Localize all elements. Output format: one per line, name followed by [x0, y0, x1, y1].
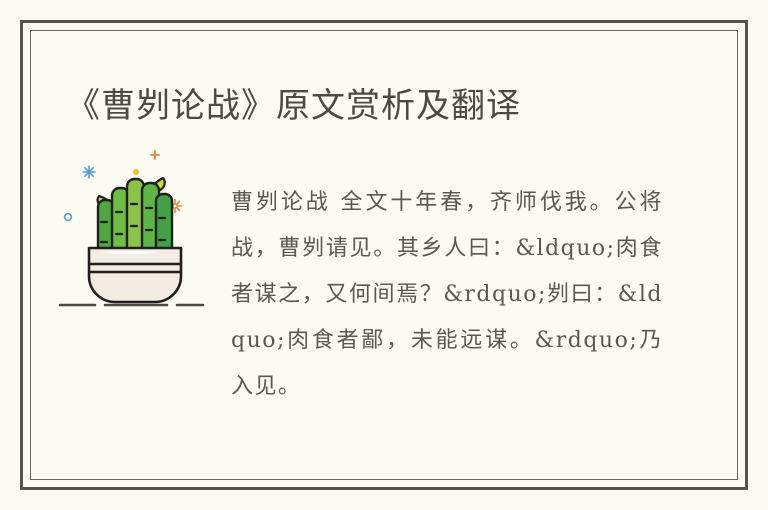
article-body-text: 曹刿论战 全文十年春，齐师伐我。公将战，曹刿请见。其乡人曰：&ldquo;肉食者…	[231, 180, 663, 410]
ring-sparkle-icon	[65, 214, 72, 221]
plus-sparkle-icon	[151, 151, 159, 159]
page-title: 《曹刿论战》原文赏析及翻译	[66, 83, 521, 129]
potted-bamboo-plant-illustration	[55, 148, 215, 308]
plant-pot	[89, 248, 181, 302]
snowflake-sparkle-icon	[83, 166, 95, 178]
dot-sparkle-icon	[133, 169, 139, 175]
article-card: 《曹刿论战》原文赏析及翻译	[0, 0, 768, 510]
